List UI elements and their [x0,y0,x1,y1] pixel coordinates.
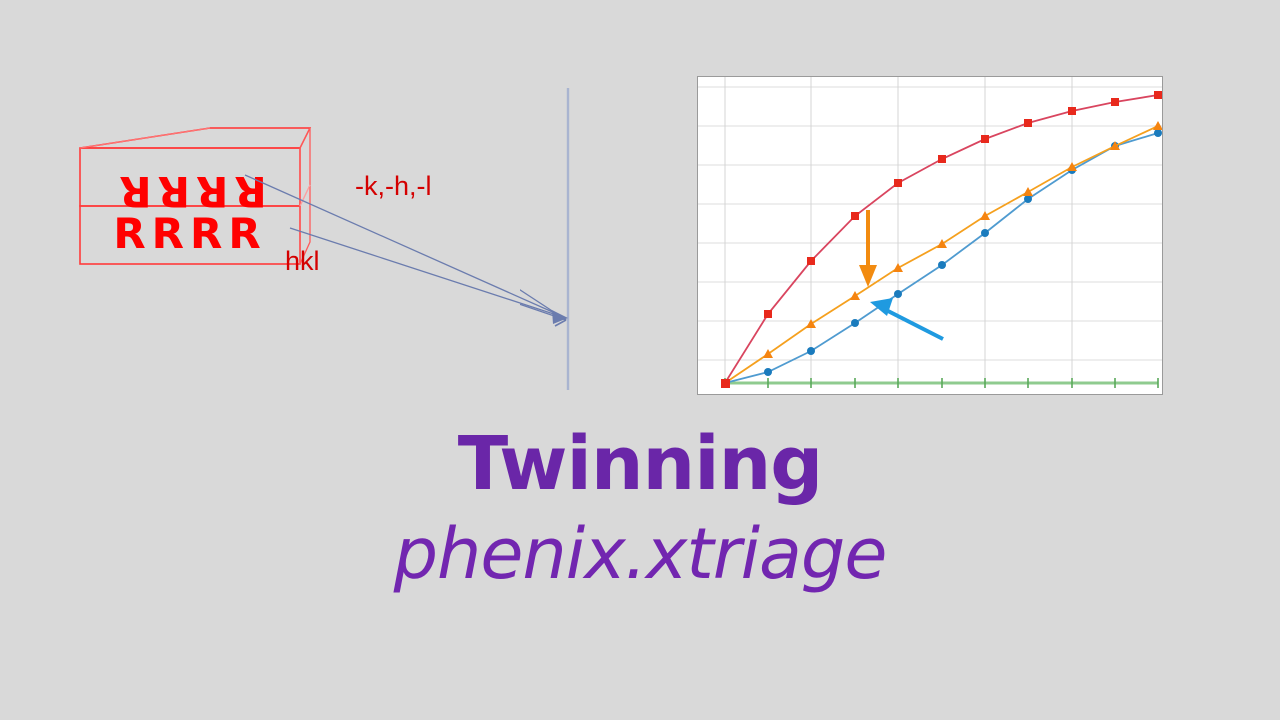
series-acentric [725,129,1162,383]
converging-arrows [520,185,566,326]
hkl-label: hkl [285,246,320,276]
page-subtitle: phenix.xtriage [0,508,1280,600]
orange-down-arrow [859,210,877,287]
lattice-letters-bottom: RRRR [113,209,266,258]
merge-divider [520,70,660,410]
chart-gridlines-vertical [725,77,1072,383]
title-block: Twinning phenix.xtriage [0,420,1280,600]
lattice-row-original: RRRR [113,209,266,258]
chart-svg [698,77,1162,394]
chart-gridlines [698,87,1162,360]
series-twinned [721,91,1162,388]
twin-lattice-diagram: RRRR RRRR -k,-h,-l hkl [60,120,480,320]
series-baseline [725,378,1158,388]
page-title: Twinning [0,420,1280,508]
twin-operator-label: -k,-h,-l [355,171,432,201]
blue-pointer-arrow [870,298,943,339]
cumulative-intensity-chart[interactable] [697,76,1163,395]
slide-root: RRRR RRRR -k,-h,-l hkl [0,0,1280,720]
